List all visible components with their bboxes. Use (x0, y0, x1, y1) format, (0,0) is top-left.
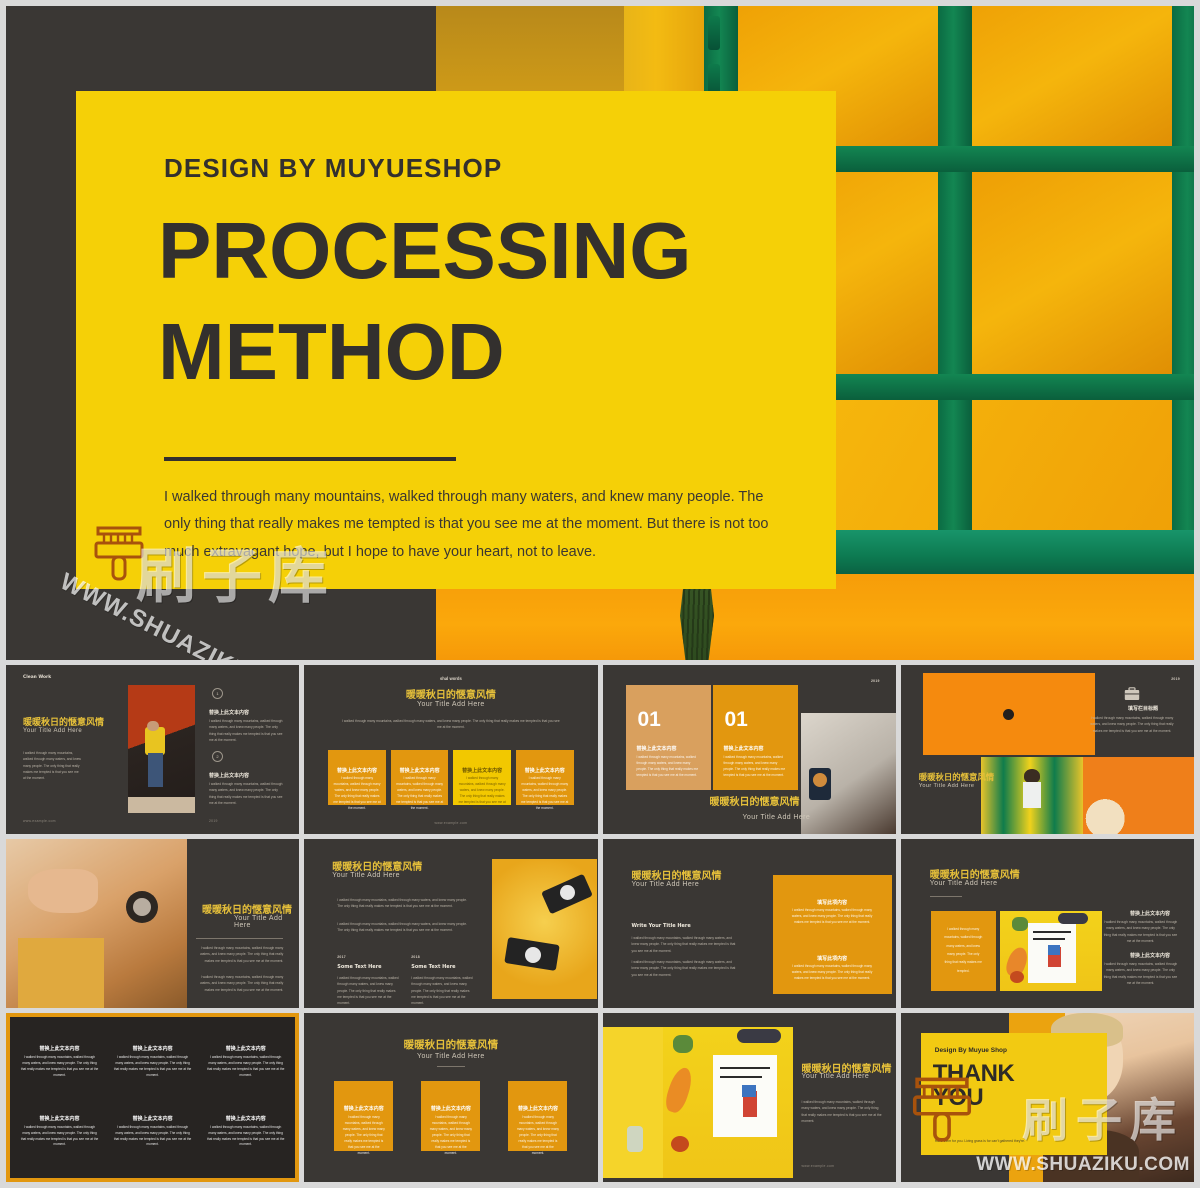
window-pane-4 (972, 172, 1172, 374)
slide3-year: 2019 (871, 679, 880, 683)
slide4-icon-label: 填写栏目标题 (1128, 705, 1158, 712)
slide10-divider (437, 1066, 465, 1067)
hero-slide-preview: DESIGN BY MUYUESHOP PROCESSING METHOD I … (0, 0, 1200, 660)
slide10-card1-label: 替换上此文本内容 (334, 1105, 393, 1112)
window-hinge-top (708, 16, 720, 50)
slide4-panel-dot (1003, 709, 1014, 720)
slide8-list-line-1: I walked through many (937, 925, 990, 933)
slide9-cell3-body: I walked through many mountains, walked … (206, 1055, 285, 1079)
slide10-card1-body: I walked through many mountains, walked … (342, 1115, 385, 1156)
slide9-cell-1[interactable]: 替换上此文本内容 I walked through many mountains… (20, 1045, 99, 1079)
slide-thumbnail-6[interactable]: 暖暖秋日的惬意风情 Your Title Add Here I walked t… (304, 839, 597, 1008)
slide4-year: 2019 (1171, 677, 1180, 681)
slide12-thanks-line-1: THANK (933, 1062, 1015, 1086)
slide9-cell5-label: 替换上此文本内容 (113, 1115, 192, 1122)
slide2-card-1[interactable]: 替换上此文本内容 I walked through many mountains… (328, 750, 386, 805)
slide2-card-4[interactable]: 替换上此文本内容 I walked through many mountains… (516, 750, 574, 805)
slide-thumbnail-5[interactable]: 暖暖秋日的惬意风情 Your Title Add Here I walked t… (6, 839, 299, 1008)
slide4-photo-girl (981, 757, 1083, 834)
slide2-cards: 替换上此文本内容 I walked through many mountains… (328, 750, 573, 805)
slide10-cards: 替换上此文本内容 I walked through many mountains… (334, 1081, 567, 1151)
hero-title-line-1: PROCESSING (158, 201, 818, 302)
slide1-badge-2: 2 (212, 751, 223, 762)
slide1-badge-1: 1 (212, 688, 223, 699)
slide10-card-1[interactable]: 替换上此文本内容 I walked through many mountains… (334, 1081, 393, 1151)
slide6-title-cn: 暖暖秋日的惬意风情 (332, 858, 422, 873)
slide11-footer: www.example.com (802, 1164, 835, 1168)
slide3-card-2[interactable]: 01 替换上此文本内容 I walked through many mounta… (713, 685, 798, 790)
slide8-list-line-5: thing that really makes me (937, 958, 990, 966)
slide9-cell-3[interactable]: 替换上此文本内容 I walked through many mountains… (206, 1045, 285, 1079)
slide3-photo (801, 713, 896, 834)
slide7-panel-item1-body: I walked through many mountains, walked … (791, 908, 874, 926)
slide9-cell6-label: 替换上此文本内容 (206, 1115, 285, 1122)
slide8-title-cn: 暖暖秋日的惬意风情 (930, 866, 1020, 881)
slide2-body: I walked through many mountains, walked … (340, 718, 561, 731)
slide6-body-2: I walked through many mountains, walked … (337, 921, 473, 934)
slide10-card2-label: 替换上此文本内容 (421, 1105, 480, 1112)
slide9-cell-2[interactable]: 替换上此文本内容 I walked through many mountains… (113, 1045, 192, 1079)
slide4-title-cn: 暖暖秋日的惬意风情 (919, 771, 994, 783)
slide6-title-en: Your Title Add Here (332, 872, 400, 879)
slide9-cell-6[interactable]: 替换上此文本内容 I walked through many mountains… (206, 1115, 285, 1149)
slide2-title-cn: 暖暖秋日的惬意风情 (304, 686, 597, 701)
slide8-list-lines: I walked through many mountains, walked … (937, 925, 990, 975)
slide12-thanks-line-2: YOU (933, 1086, 1015, 1110)
slide8-side-label-2: 替换上此文本内容 (1130, 952, 1170, 959)
slide11-photo (603, 1027, 793, 1178)
slide10-card3-label: 替换上此文本内容 (508, 1105, 567, 1112)
slide7-subhead: Write Your Title Here (632, 923, 691, 929)
hero-description: I walked through many mountains, walked … (164, 484, 784, 566)
slide1-title-cn: 暖暖秋日的惬意风情 (23, 715, 104, 728)
slide10-card-3[interactable]: 替换上此文本内容 I walked through many mountains… (508, 1081, 567, 1151)
slide5-body-1: I walked through many mountains, walked … (196, 945, 283, 964)
slide1-photo (128, 685, 195, 813)
slide1-item1-label: 替换上此文本内容 (209, 709, 249, 716)
slide4-icon-body: I walked through many mountains, walked … (1090, 715, 1174, 734)
slide8-side-body-1: I walked through many mountains, walked … (1103, 919, 1178, 944)
window-pane-2 (972, 6, 1172, 146)
slide8-divider (930, 896, 962, 897)
slide-thumbnail-9[interactable]: 替换上此文本内容 I walked through many mountains… (6, 1013, 299, 1182)
slide5-divider (196, 938, 283, 939)
slide12-kicker: Design By Muyue Shop (935, 1047, 1007, 1054)
slide7-panel-item2-body: I walked through many mountains, walked … (791, 964, 874, 982)
slide1-year: 2019 (209, 819, 218, 823)
slide9-cell2-label: 替换上此文本内容 (113, 1045, 192, 1052)
slide10-title-en: Your Title Add Here (304, 1053, 597, 1060)
slide6-photo (492, 859, 597, 999)
slide3-title-en: Your Title Add Here (743, 814, 811, 821)
slide1-item2-body: I walked through many mountains, walked … (209, 781, 284, 806)
slide2-card2-body: I walked through many mountains, walked … (396, 776, 444, 812)
slide1-item1-body: I walked through many mountains, walked … (209, 718, 284, 743)
slide7-body-1: I walked through many mountains, walked … (632, 935, 737, 954)
slide-thumbnail-11[interactable]: 暖暖秋日的惬意风情 Your Title Add Here I walked t… (603, 1013, 896, 1182)
slide-thumbnail-1[interactable]: Clean Work 暖暖秋日的惬意风情 Your Title Add Here… (6, 665, 299, 834)
slide9-cell1-body: I walked through many mountains, walked … (20, 1055, 99, 1079)
slide-thumbnail-2[interactable]: shal words 暖暖秋日的惬意风情 Your Title Add Here… (304, 665, 597, 834)
slide2-card1-title: 替换上此文本内容 (332, 767, 382, 774)
slide7-body-2: I walked through many mountains, walked … (632, 959, 737, 978)
slide1-kicker: Clean Work (23, 675, 51, 680)
slide2-card3-body: I walked through many mountains, walked … (458, 776, 506, 812)
slide2-card4-title: 替换上此文本内容 (520, 767, 570, 774)
slide10-title-cn: 暖暖秋日的惬意风情 (304, 1037, 597, 1052)
slide2-card4-body: I walked through many mountains, walked … (521, 776, 569, 812)
slide3-card2-title: 替换上此文本内容 (724, 745, 764, 752)
slide1-title-en: Your Title Add Here (23, 728, 82, 734)
slide3-card-1[interactable]: 01 替换上此文本内容 I walked through many mounta… (626, 685, 711, 790)
slide6-timeline-2: 2018 Some Text Here I walked through man… (411, 955, 473, 1006)
slide8-side-body-2: I walked through many mountains, walked … (1103, 961, 1178, 986)
hero-divider (164, 457, 456, 461)
hero-title-line-2: METHOD (158, 302, 818, 403)
slide9-cell-4[interactable]: 替换上此文本内容 I walked through many mountains… (20, 1115, 99, 1149)
slide6-label-1: Some Text Here (337, 964, 399, 970)
slide-thumbnail-4[interactable]: 2019 填写栏目标题 I walked through many mounta… (901, 665, 1194, 834)
slide6-body-3: I walked through many mountains, walked … (337, 975, 399, 1006)
slide7-title-cn: 暖暖秋日的惬意风情 (632, 867, 722, 882)
slide-thumbnail-12[interactable]: Design By Muyue Shop THANK YOU Have them… (901, 1013, 1194, 1182)
slide5-title-en: Your Title Add Here (234, 915, 299, 929)
slide6-body-4: I walked through many mountains, walked … (411, 975, 473, 1006)
slide3-title-cn: 暖暖秋日的惬意风情 (710, 793, 800, 808)
slide12-yellow-panel: Design By Muyue Shop THANK YOU Have them… (921, 1033, 1107, 1155)
slide7-orange-panel[interactable]: 填写此项内容 I walked through many mountains, … (773, 875, 892, 994)
slide8-photo (1000, 911, 1102, 991)
slide6-year-1: 2017 (337, 955, 399, 959)
slide6-timeline-1: 2017 Some Text Here I walked through man… (337, 955, 399, 1006)
slide5-photo (6, 839, 187, 1008)
slide1-body: I walked through many mountains, walked … (23, 750, 81, 781)
slide3-card1-number: 01 (638, 708, 661, 732)
slide4-photo-arc (1083, 757, 1194, 834)
slide4-orange-panel (923, 673, 1095, 755)
slide2-card1-body: I walked through many mountains, walked … (333, 776, 381, 812)
slide2-footer: www.example.com (304, 821, 597, 825)
window-mullion-right (1172, 6, 1200, 608)
slide8-list-line-3: many waters, and knew (937, 942, 990, 950)
slide10-card-2[interactable]: 替换上此文本内容 I walked through many mountains… (421, 1081, 480, 1151)
slide12-thanks: THANK YOU (933, 1062, 1015, 1109)
hero-title: PROCESSING METHOD (158, 201, 818, 403)
slide3-card2-number: 01 (725, 708, 748, 732)
slide12-closing: Have them for you. Living grass is for c… (935, 1139, 1097, 1143)
slide2-card-2[interactable]: 替换上此文本内容 I walked through many mountains… (391, 750, 449, 805)
slide6-label-2: Some Text Here (411, 964, 473, 970)
slide9-cell1-label: 替换上此文本内容 (20, 1045, 99, 1052)
slide7-panel-item1-label: 填写此项内容 (773, 899, 892, 906)
slide-thumbnail-3[interactable]: 2019 01 替换上此文本内容 I walked through many m… (603, 665, 896, 834)
slide7-title-en: Your Title Add Here (632, 881, 700, 888)
briefcase-icon (1124, 687, 1140, 701)
slide8-list-line-2: mountains, walked through (937, 933, 990, 941)
slide9-cell3-label: 替换上此文本内容 (206, 1045, 285, 1052)
slide9-cell-5[interactable]: 替换上此文本内容 I walked through many mountains… (113, 1115, 192, 1149)
slide1-footer: www.example.com (23, 819, 56, 823)
slide2-card-3[interactable]: 替换上此文本内容 I walked through many mountains… (453, 750, 511, 805)
slide9-cell2-body: I walked through many mountains, walked … (113, 1055, 192, 1079)
slide3-card2-body: I walked through many mountains, walked … (724, 755, 789, 779)
slide6-year-2: 2018 (411, 955, 473, 959)
slide2-kicker: shal words (304, 676, 597, 681)
slide8-list-line-6: tempted. (937, 967, 990, 975)
slide-thumbnail-8[interactable]: 暖暖秋日的惬意风情 Your Title Add Here I walked t… (901, 839, 1194, 1008)
slide2-card2-title: 替换上此文本内容 (395, 767, 445, 774)
slide2-card3-title: 替换上此文本内容 (457, 767, 507, 774)
slide5-body-2: I walked through many mountains, walked … (196, 974, 283, 993)
slide9-cell5-body: I walked through many mountains, walked … (113, 1125, 192, 1149)
slide2-title-en: Your Title Add Here (304, 701, 597, 708)
slide11-title-en: Your Title Add Here (802, 1073, 870, 1080)
slide-thumbnail-10[interactable]: 暖暖秋日的惬意风情 Your Title Add Here 替换上此文本内容 I… (304, 1013, 597, 1182)
slide7-panel-item2-label: 填写此项内容 (773, 955, 892, 962)
slide8-orange-list[interactable]: I walked through many mountains, walked … (931, 911, 996, 991)
slide9-cell4-body: I walked through many mountains, walked … (20, 1125, 99, 1149)
slide-thumbnail-grid: Clean Work 暖暖秋日的惬意风情 Your Title Add Here… (0, 660, 1200, 1188)
slide4-title-en: Your Title Add Here (919, 783, 975, 789)
slide3-card1-title: 替换上此文本内容 (637, 745, 677, 752)
slide9-inner: 替换上此文本内容 I walked through many mountains… (10, 1017, 295, 1178)
hero-eyebrow: DESIGN BY MUYUESHOP (164, 153, 502, 184)
slide9-cell4-label: 替换上此文本内容 (20, 1115, 99, 1122)
slide-thumbnail-7[interactable]: 暖暖秋日的惬意风情 Your Title Add Here Write Your… (603, 839, 896, 1008)
window-mullion-mid (938, 6, 972, 608)
slide9-cell6-body: I walked through many mountains, walked … (206, 1125, 285, 1149)
slide8-side-label-1: 替换上此文本内容 (1130, 910, 1170, 917)
slide1-item2-label: 替换上此文本内容 (209, 772, 249, 779)
slide8-title-en: Your Title Add Here (930, 880, 998, 887)
hero-yellow-panel: DESIGN BY MUYUESHOP PROCESSING METHOD I … (76, 91, 836, 589)
slide11-body: I walked through many mountains, walked … (802, 1099, 883, 1124)
slide8-list-line-4: many people. The only (937, 950, 990, 958)
slide10-card3-body: I walked through many mountains, walked … (516, 1115, 559, 1156)
slide3-card1-body: I walked through many mountains, walked … (637, 755, 702, 779)
slide5-title-cn: 暖暖秋日的惬意风情 (202, 901, 292, 916)
slide9-cell-grid: 替换上此文本内容 I walked through many mountains… (20, 1045, 285, 1148)
slide10-card2-body: I walked through many mountains, walked … (429, 1115, 472, 1156)
slide6-body-1: I walked through many mountains, walked … (337, 897, 473, 910)
